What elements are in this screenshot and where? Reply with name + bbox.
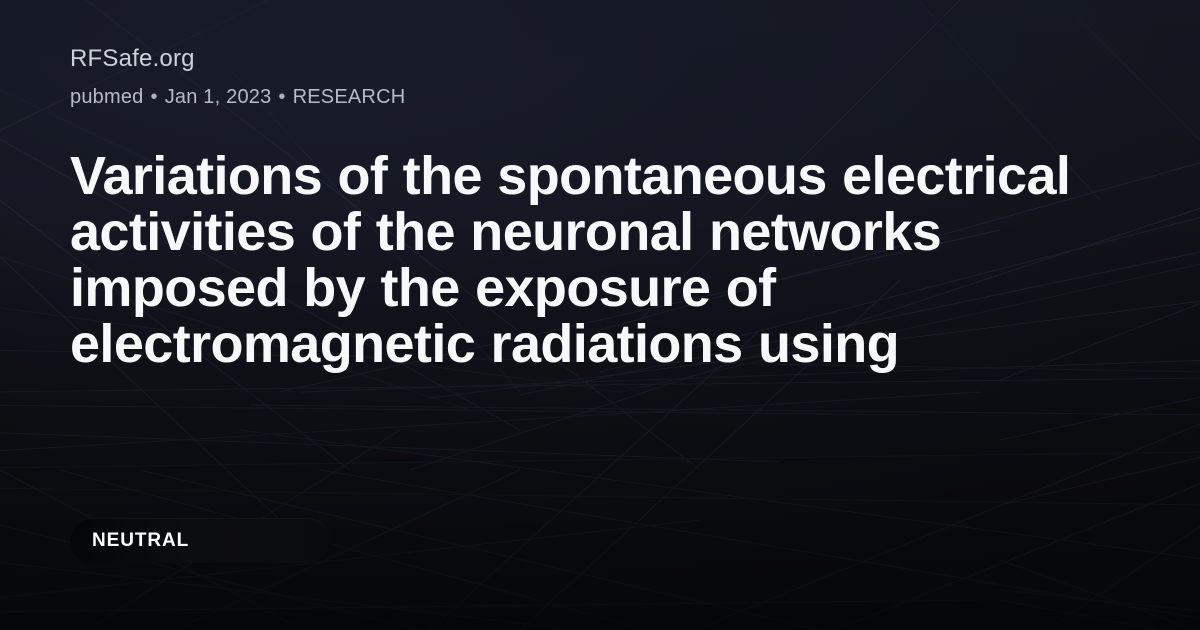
meta-separator-2: • [271,86,292,108]
sentiment-badge: NEUTRAL [70,518,330,563]
source-name: RFSafe.org [70,44,195,74]
article-meta: pubmed•Jan 1, 2023•RESEARCH [70,84,405,110]
card-content: RFSafe.org pubmed•Jan 1, 2023•RESEARCH V… [70,0,1130,630]
meta-category: RESEARCH [293,86,406,108]
badge-row: NEUTRAL [70,518,330,563]
meta-origin: pubmed [70,86,143,108]
article-share-card: RFSafe.org pubmed•Jan 1, 2023•RESEARCH V… [0,0,1200,630]
meta-date: Jan 1, 2023 [165,86,272,108]
article-headline: Variations of the spontaneous electrical… [70,148,1125,372]
meta-separator-1: • [143,86,164,108]
sentiment-badge-label: NEUTRAL [92,531,189,550]
